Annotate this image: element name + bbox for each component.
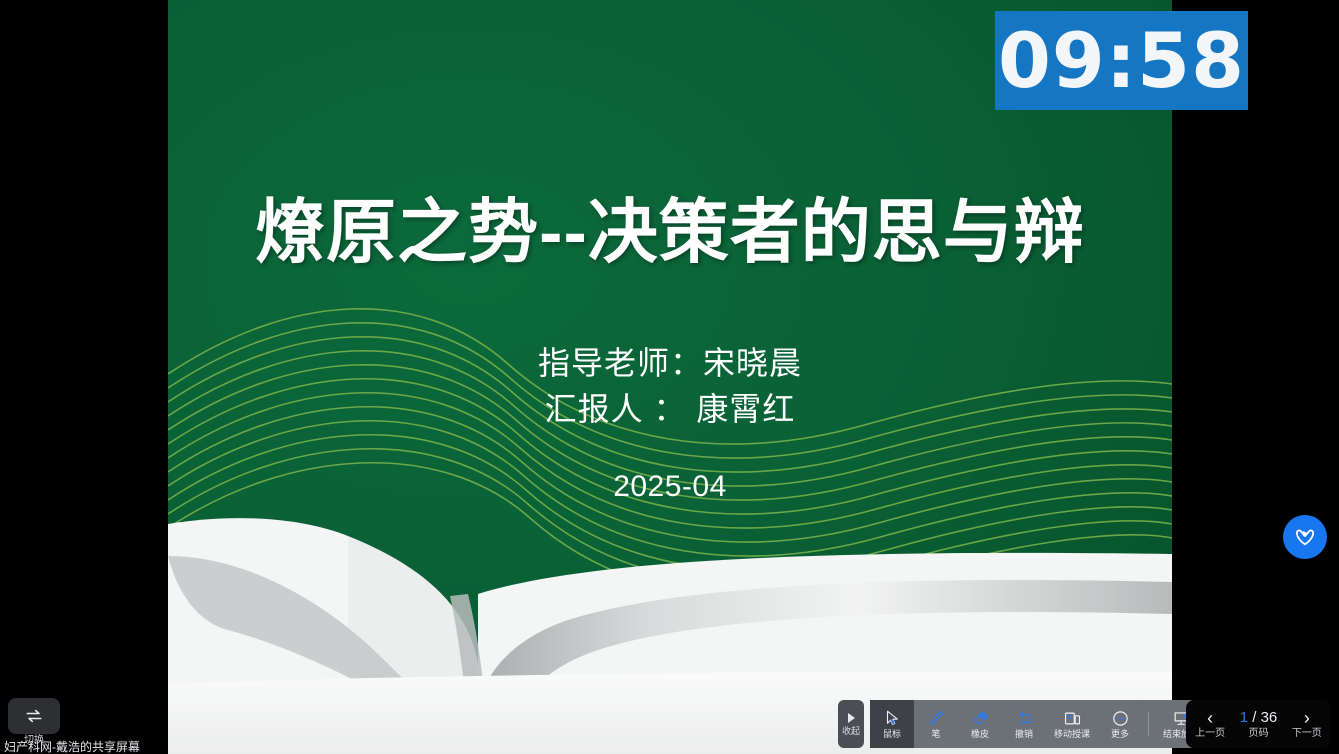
pen-icon <box>927 708 945 728</box>
toolbar-item-eraser[interactable]: 橡皮 <box>958 700 1002 748</box>
next-page-button[interactable]: › 下一页 <box>1283 709 1331 739</box>
presenter-line: 汇报人 ： 康霄红 <box>168 386 1172 432</box>
page-indicator[interactable]: 1 / 36 页码 <box>1234 709 1282 739</box>
chevron-left-icon: ‹ <box>1207 709 1213 727</box>
slide-date: 2025-04 <box>168 470 1172 504</box>
countdown-timer: 09:58 <box>995 11 1248 110</box>
page-separator: / <box>1248 709 1261 726</box>
screen-root: 燎原之势--决策者的思与辩 指导老师：宋晓晨 汇报人 ： 康霄红 2025-04… <box>0 0 1339 754</box>
toolbar-label-mobile-teaching: 移动授课 <box>1054 729 1090 740</box>
prev-page-label: 上一页 <box>1195 728 1225 739</box>
chevron-right-icon: › <box>1304 709 1310 727</box>
eraser-icon <box>971 708 990 728</box>
presentation-slide: 燎原之势--决策者的思与辩 指导老师：宋晓晨 汇报人 ： 康霄红 2025-04… <box>168 0 1172 754</box>
page-label: 页码 <box>1248 728 1268 739</box>
toolbar-label-mouse: 鼠标 <box>883 729 901 740</box>
toolbar-item-mouse[interactable]: 鼠标 <box>870 700 914 748</box>
toolbar-collapse-button[interactable]: 收起 <box>838 700 864 748</box>
slide-title: 燎原之势--决策者的思与辩 <box>168 176 1172 277</box>
wechat-channels-button[interactable] <box>1283 515 1327 559</box>
cursor-icon <box>883 708 901 728</box>
toolbar-item-mobile-teaching[interactable]: 移动授课 <box>1046 700 1098 748</box>
total-pages: 36 <box>1261 709 1278 726</box>
advisor-line: 指导老师：宋晓晨 <box>168 340 1172 386</box>
mobile-teaching-icon <box>1063 708 1082 728</box>
toolbar-separator <box>1148 712 1149 736</box>
wechat-channels-icon <box>1292 524 1318 550</box>
play-triangle-icon <box>848 713 855 723</box>
switch-arrows-icon <box>24 706 44 726</box>
toolbar-label-undo: 撤销 <box>1015 729 1033 740</box>
presentation-toolbar: 鼠标 笔 橡皮 <box>870 700 1207 748</box>
more-dots-icon <box>1111 708 1130 728</box>
toolbar-item-pen[interactable]: 笔 <box>914 700 958 748</box>
toolbar-collapse-label: 收起 <box>842 726 860 736</box>
next-page-label: 下一页 <box>1292 728 1322 739</box>
toolbar-item-undo[interactable]: 撤销 <box>1002 700 1046 748</box>
prev-page-button[interactable]: ‹ 上一页 <box>1186 709 1234 739</box>
toolbar-item-more[interactable]: 更多 <box>1098 700 1142 748</box>
switch-button[interactable] <box>8 698 60 734</box>
presenter-block: 指导老师：宋晓晨 汇报人 ： 康霄红 <box>168 340 1172 433</box>
undo-icon <box>1015 708 1034 728</box>
current-page: 1 <box>1240 709 1248 726</box>
page-counter: 1 / 36 <box>1240 709 1278 727</box>
toolbar-label-eraser: 橡皮 <box>971 729 989 740</box>
share-caption: 妇产科网-戴浩的共享屏幕 <box>4 738 140 754</box>
toolbar-label-more: 更多 <box>1111 729 1129 740</box>
toolbar-label-pen: 笔 <box>931 729 940 740</box>
page-navigation: ‹ 上一页 1 / 36 页码 › 下一页 <box>1186 700 1331 748</box>
timer-value: 09:58 <box>998 23 1245 99</box>
